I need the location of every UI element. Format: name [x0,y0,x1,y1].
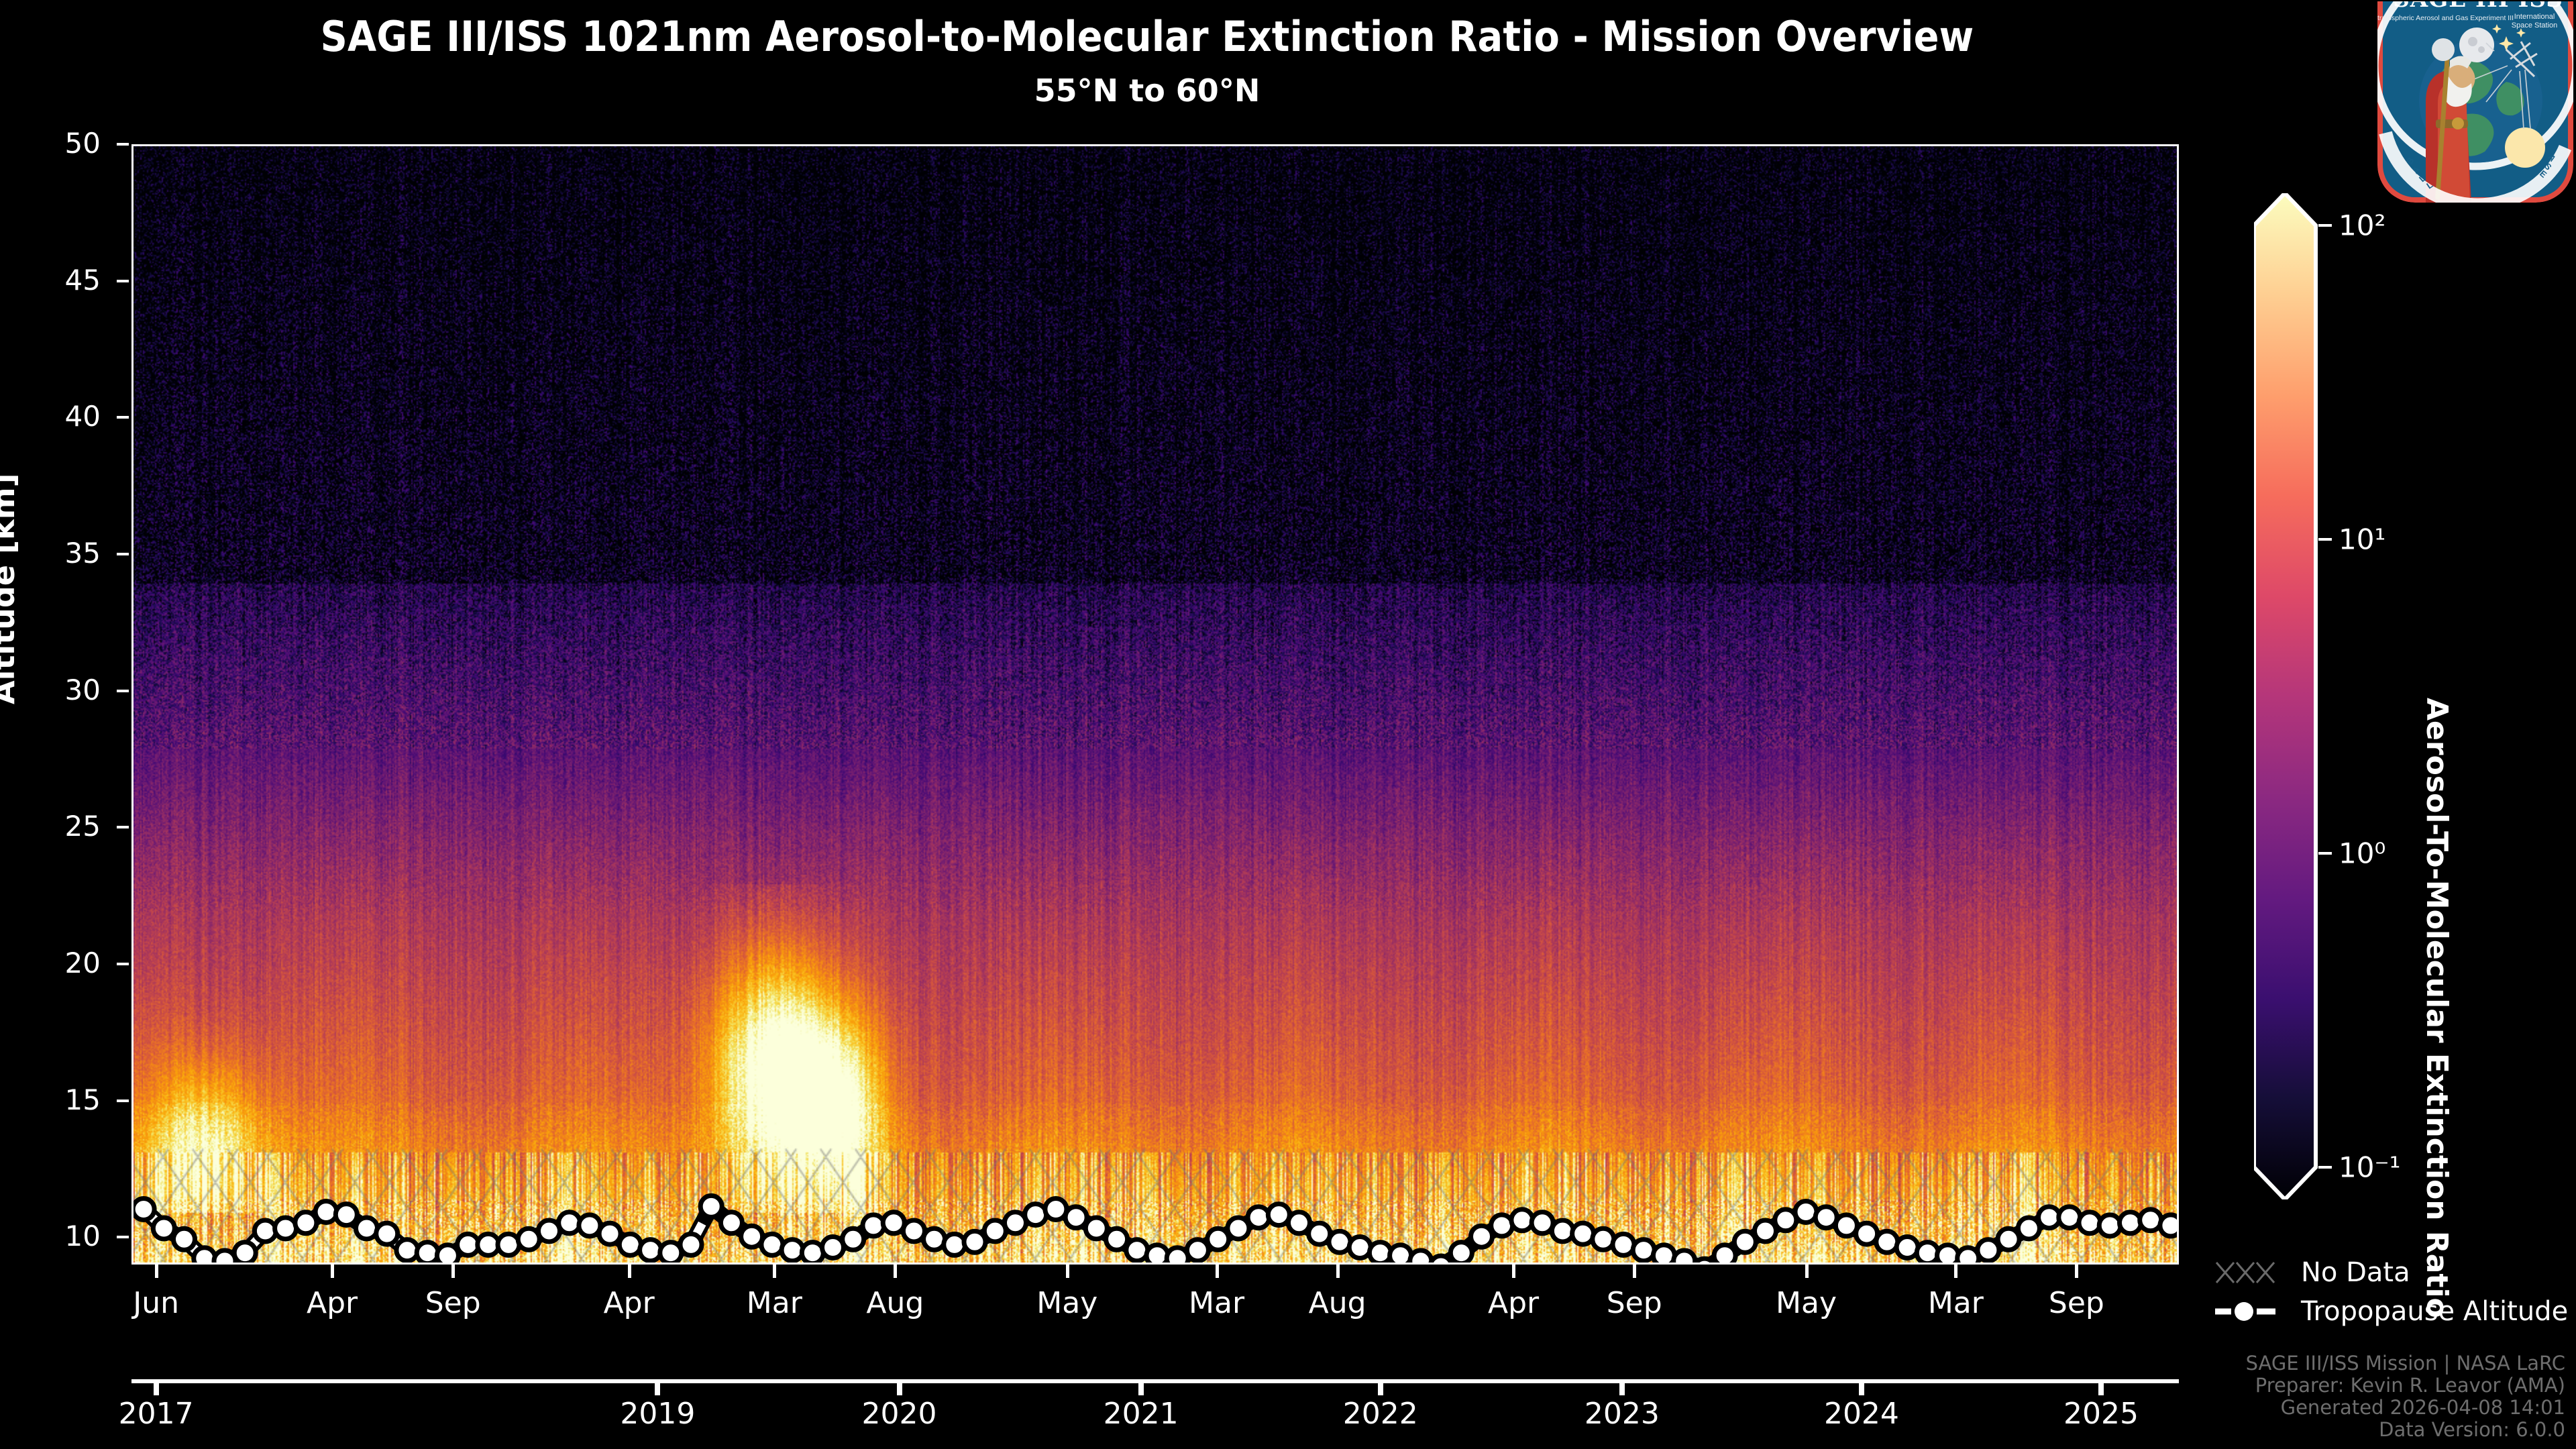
y-axis-tick [117,690,129,692]
legend-label-tropopause: Tropopause Altitude [2301,1296,2568,1327]
tropopause-marker [234,1242,256,1264]
x-axis-month-tick [1336,1265,1340,1278]
x-axis-month-tick [155,1265,158,1278]
x-axis-month-label: Mar [747,1286,802,1320]
colorbar-tick-label: 10⁻¹ [2339,1151,2400,1184]
x-axis-year-tick [1859,1383,1864,1395]
y-axis-tick-label: 45 [0,264,101,297]
hatch-cross-icon [2214,1257,2286,1288]
tropopause-marker [1998,1228,2019,1250]
tropopause-marker [2160,1215,2179,1236]
colorbar-tick [2318,224,2332,227]
colorbar-title: Aerosol-To-Molecular Extinction Ratio [2420,698,2454,1318]
tropopause-marker [1978,1240,1999,1261]
y-axis-tick [117,1236,129,1238]
svg-text:Space Station: Space Station [2512,21,2558,30]
x-axis-month-tick [1805,1265,1809,1278]
x-axis-year-tick [897,1383,902,1395]
x-axis-year-label: 2024 [1824,1397,1899,1431]
x-axis-month-tick [1512,1265,1515,1278]
legend-item-tropopause: Tropopause Altitude [2214,1292,2568,1331]
page-subtitle: 55°N to 60°N [40,72,2254,109]
colorbar-tick [2318,1166,2332,1169]
footer-line-generated: Generated 2026-04-08 14:01 [2246,1397,2565,1419]
y-axis-tick [117,1099,129,1102]
tropopause-marker [2018,1218,2039,1239]
colorbar-tick [2318,538,2332,541]
tropopause-marker [1228,1218,1249,1239]
tropopause-marker [174,1228,195,1250]
tropopause-marker [1430,1256,1452,1265]
colorbar-tick [2318,852,2332,855]
tropopause-marker [1065,1207,1087,1228]
x-axis-month-tick [1216,1265,1219,1278]
x-axis-month-tick [1066,1265,1069,1278]
tropopause-marker [1734,1231,1756,1252]
tropopause-marker [1207,1228,1229,1250]
tropopause-marker [376,1223,398,1244]
y-axis-tick-label: 20 [0,947,101,979]
tropopause-marker [1937,1245,1959,1265]
tropopause-marker [1450,1242,1472,1264]
svg-text:International: International [2514,13,2555,21]
colorbar[interactable] [2254,193,2334,1199]
x-axis-month-label: Mar [1189,1286,1244,1320]
x-axis-month-label: Mar [1928,1286,1984,1320]
heatmap-plot-area[interactable] [131,144,2179,1265]
x-axis-month-tick [451,1265,455,1278]
x-axis-month-label: Jun [133,1286,179,1320]
sage-iii-iss-mission-patch-logo: SAGE III·ISS Stratospheric Aerosol and G… [2285,1,2575,203]
x-axis-year-label: 2025 [2063,1397,2139,1431]
x-axis-month-label: Aug [1309,1286,1366,1320]
x-axis-month-label: Sep [1607,1286,1662,1320]
tropopause-marker [843,1228,864,1250]
x-axis-year-tick [154,1383,159,1395]
tropopause-marker [599,1223,621,1244]
y-axis-tick [117,553,129,555]
y-axis-tick [117,143,129,146]
tropopause-marker [1187,1240,1208,1261]
x-axis-month-tick [894,1265,897,1278]
x-axis-month-label: Apr [307,1286,358,1320]
tropopause-marker [1674,1250,1695,1265]
colorbar-tick-label: 10¹ [2339,523,2385,556]
y-axis-tick-label: 25 [0,810,101,843]
x-axis-month-label: Apr [604,1286,655,1320]
tropopause-marker [1410,1250,1432,1265]
legend-label-no-data: No Data [2301,1257,2410,1288]
x-axis-month-tick [1954,1265,1957,1278]
tropopause-marker [2099,1215,2121,1236]
y-axis-tick-label: 50 [0,127,101,160]
tropopause-marker [1714,1245,1735,1265]
y-axis-tick-label: 10 [0,1220,101,1252]
tropopause-marker [133,1199,154,1220]
y-axis-tick-label: 15 [0,1083,101,1116]
tropopause-marker [1289,1212,1310,1234]
x-axis-month-tick [628,1265,631,1278]
page-title: SAGE III/ISS 1021nm Aerosol-to-Molecular… [40,12,2254,61]
colorbar-tick-label: 10⁰ [2339,837,2385,870]
tropopause-marker [680,1234,702,1255]
tropopause-marker [1146,1245,1168,1265]
x-axis-year-tick [1138,1383,1144,1395]
footer-credits: SAGE III/ISS Mission | NASA LaRC Prepare… [2246,1352,2565,1441]
x-axis-year-label: 2019 [620,1397,695,1431]
tropopause-marker [700,1195,722,1217]
tropopause-marker [1471,1226,1493,1247]
x-axis-month-tick [2075,1265,2078,1278]
tropopause-marker [1755,1220,1776,1242]
tropopause-marker [1106,1228,1128,1250]
x-axis-year-label: 2022 [1343,1397,1418,1431]
y-axis-tick [117,826,129,828]
tropopause-marker [1694,1258,1715,1265]
x-axis-year-tick [2098,1383,2104,1395]
x-axis-month-label: Apr [1488,1286,1539,1320]
x-axis-years: 20172019202020212022202320242025 [131,1379,2179,1383]
x-axis-month-tick [331,1265,334,1278]
x-axis-year-label: 2023 [1585,1397,1660,1431]
x-axis-month-label: May [1036,1286,1097,1320]
x-axis-month-label: May [1776,1286,1837,1320]
tropopause-marker [720,1212,742,1234]
tropopause-marker [437,1245,458,1265]
x-axis-month-tick [1633,1265,1636,1278]
tropopause-marker [335,1204,357,1226]
y-axis-tick [117,963,129,965]
x-axis-month-label: Aug [866,1286,924,1320]
y-axis-title: Altitude [km] [0,473,21,704]
y-axis-tick [117,416,129,419]
tropopause-marker [295,1212,317,1234]
x-axis-year-tick [1619,1383,1625,1395]
footer-line-mission: SAGE III/ISS Mission | NASA LaRC [2246,1352,2565,1375]
footer-line-preparer: Preparer: Kevin R. Leavor (AMA) [2246,1375,2565,1397]
x-axis-month-label: Sep [2049,1286,2104,1320]
x-axis-month-label: Sep [425,1286,481,1320]
y-axis-tick-label: 40 [0,400,101,433]
x-axis-year-label: 2021 [1104,1397,1179,1431]
svg-text:SAGE III·ISS: SAGE III·ISS [2393,1,2563,13]
line-circle-icon [2214,1296,2286,1327]
legend-item-no-data: No Data [2214,1253,2568,1292]
x-axis-year-label: 2020 [862,1397,937,1431]
footer-line-version: Data Version: 6.0.0 [2246,1419,2565,1441]
tropopause-altitude-series [133,146,2179,1265]
x-axis-year-tick [655,1383,660,1395]
tropopause-marker [964,1231,985,1252]
x-axis-year-tick [1378,1383,1383,1395]
tropopause-marker [396,1240,418,1261]
x-axis-month-tick [773,1265,776,1278]
tropopause-marker [1085,1218,1107,1239]
x-axis-year-label: 2017 [119,1397,194,1431]
tropopause-marker [153,1218,174,1239]
svg-text:Stratospheric Aerosol and Gas: Stratospheric Aerosol and Gas Experiment… [2373,14,2514,22]
colorbar-tick-label: 10² [2339,209,2385,242]
chart-legend: No Data Tropopause Altitude [2214,1253,2568,1331]
y-axis-tick [117,280,129,282]
